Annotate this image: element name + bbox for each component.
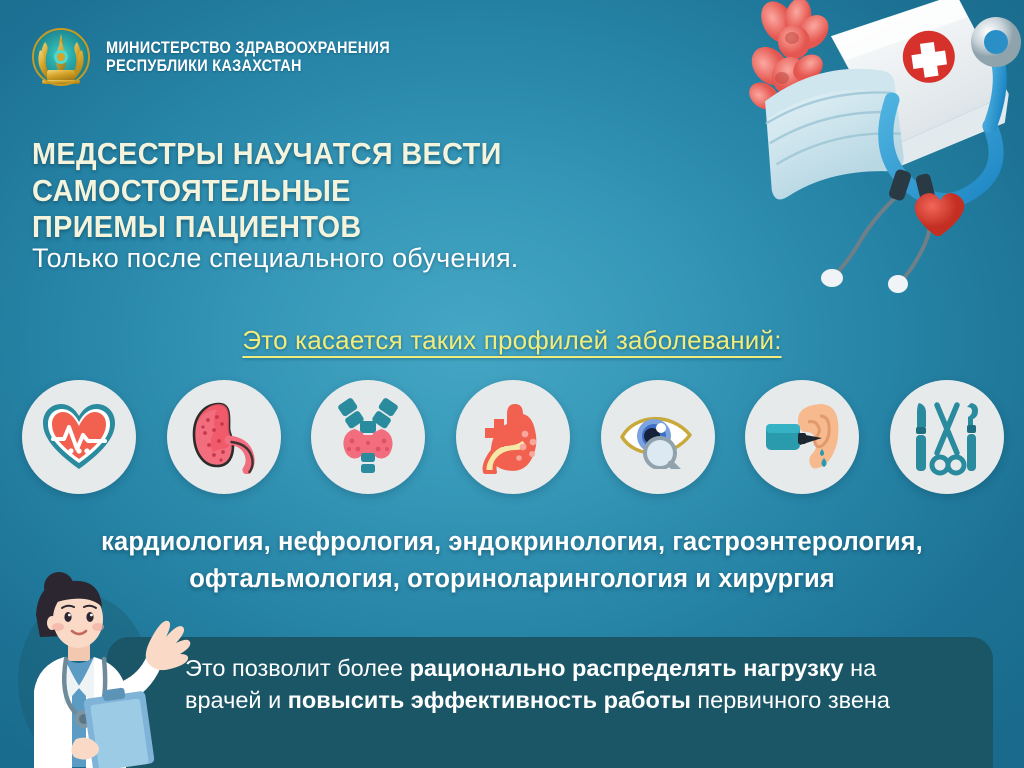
bottom-statement-text: Это позволит более рационально распредел…	[185, 652, 925, 716]
statement-seg-3: первичного звена	[691, 687, 890, 713]
infographic-poster: МИНИСТЕРСТВО ЗДРАВООХРАНЕНИЯ РЕСПУБЛИКИ …	[0, 0, 1024, 768]
ministry-header: МИНИСТЕРСТВО ЗДРАВООХРАНЕНИЯ РЕСПУБЛИКИ …	[32, 28, 429, 86]
ministry-line-1: МИНИСТЕРСТВО ЗДРАВООХРАНЕНИЯ	[106, 39, 390, 57]
heart-ecg-icon	[22, 380, 136, 494]
stomach-icon	[456, 380, 570, 494]
statement-bold-1: рационально распределять нагрузку	[410, 655, 844, 681]
subheadline: Только после специального обучения.	[32, 243, 518, 274]
headline-line-2: ПРИЕМЫ ПАЦИЕНТОВ	[32, 209, 748, 246]
headline: МЕДСЕСТРЫ НАУЧАТСЯ ВЕСТИ САМОСТОЯТЕЛЬНЫЕ…	[32, 136, 748, 246]
thyroid-icon	[311, 380, 425, 494]
ear-drops-icon	[745, 380, 859, 494]
female-doctor-illustration	[6, 563, 196, 768]
medical-supplies-collage	[714, 0, 1024, 294]
surgical-instruments-icon	[890, 380, 1004, 494]
specialties-line-1: кардиология, нефрология, эндокринология,…	[12, 524, 1012, 561]
kidney-icon	[167, 380, 281, 494]
kazakhstan-coat-of-arms-icon	[32, 28, 90, 86]
disease-profile-icons	[22, 378, 1004, 496]
ministry-name: МИНИСТЕРСТВО ЗДРАВООХРАНЕНИЯ РЕСПУБЛИКИ …	[106, 39, 429, 76]
statement-seg-1: Это позволит более	[185, 655, 410, 681]
ministry-line-2: РЕСПУБЛИКИ КАЗАХСТАН	[106, 57, 390, 75]
headline-line-1: МЕДСЕСТРЫ НАУЧАТСЯ ВЕСТИ САМОСТОЯТЕЛЬНЫЕ	[32, 136, 748, 209]
statement-bold-2: повысить эффективность работы	[288, 687, 691, 713]
eye-magnifier-icon	[601, 380, 715, 494]
profiles-heading: Это касается таких профилей заболеваний:	[0, 325, 1024, 356]
